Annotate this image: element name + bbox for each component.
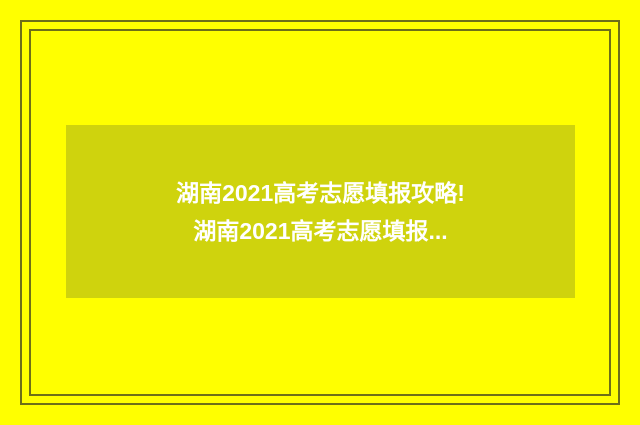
caption-line-2: 湖南2021高考志愿填报...: [193, 217, 447, 245]
caption-text-block: 湖南2021高考志愿填报攻略! 湖南2021高考志愿填报...: [66, 125, 575, 298]
screenshot-root: 湖南2021高考志愿填报攻略! 湖南2021高考志愿填报...: [0, 0, 640, 425]
caption-line-1: 湖南2021高考志愿填报攻略!: [176, 179, 465, 207]
caption-band: 湖南2021高考志愿填报攻略! 湖南2021高考志愿填报...: [66, 125, 575, 298]
